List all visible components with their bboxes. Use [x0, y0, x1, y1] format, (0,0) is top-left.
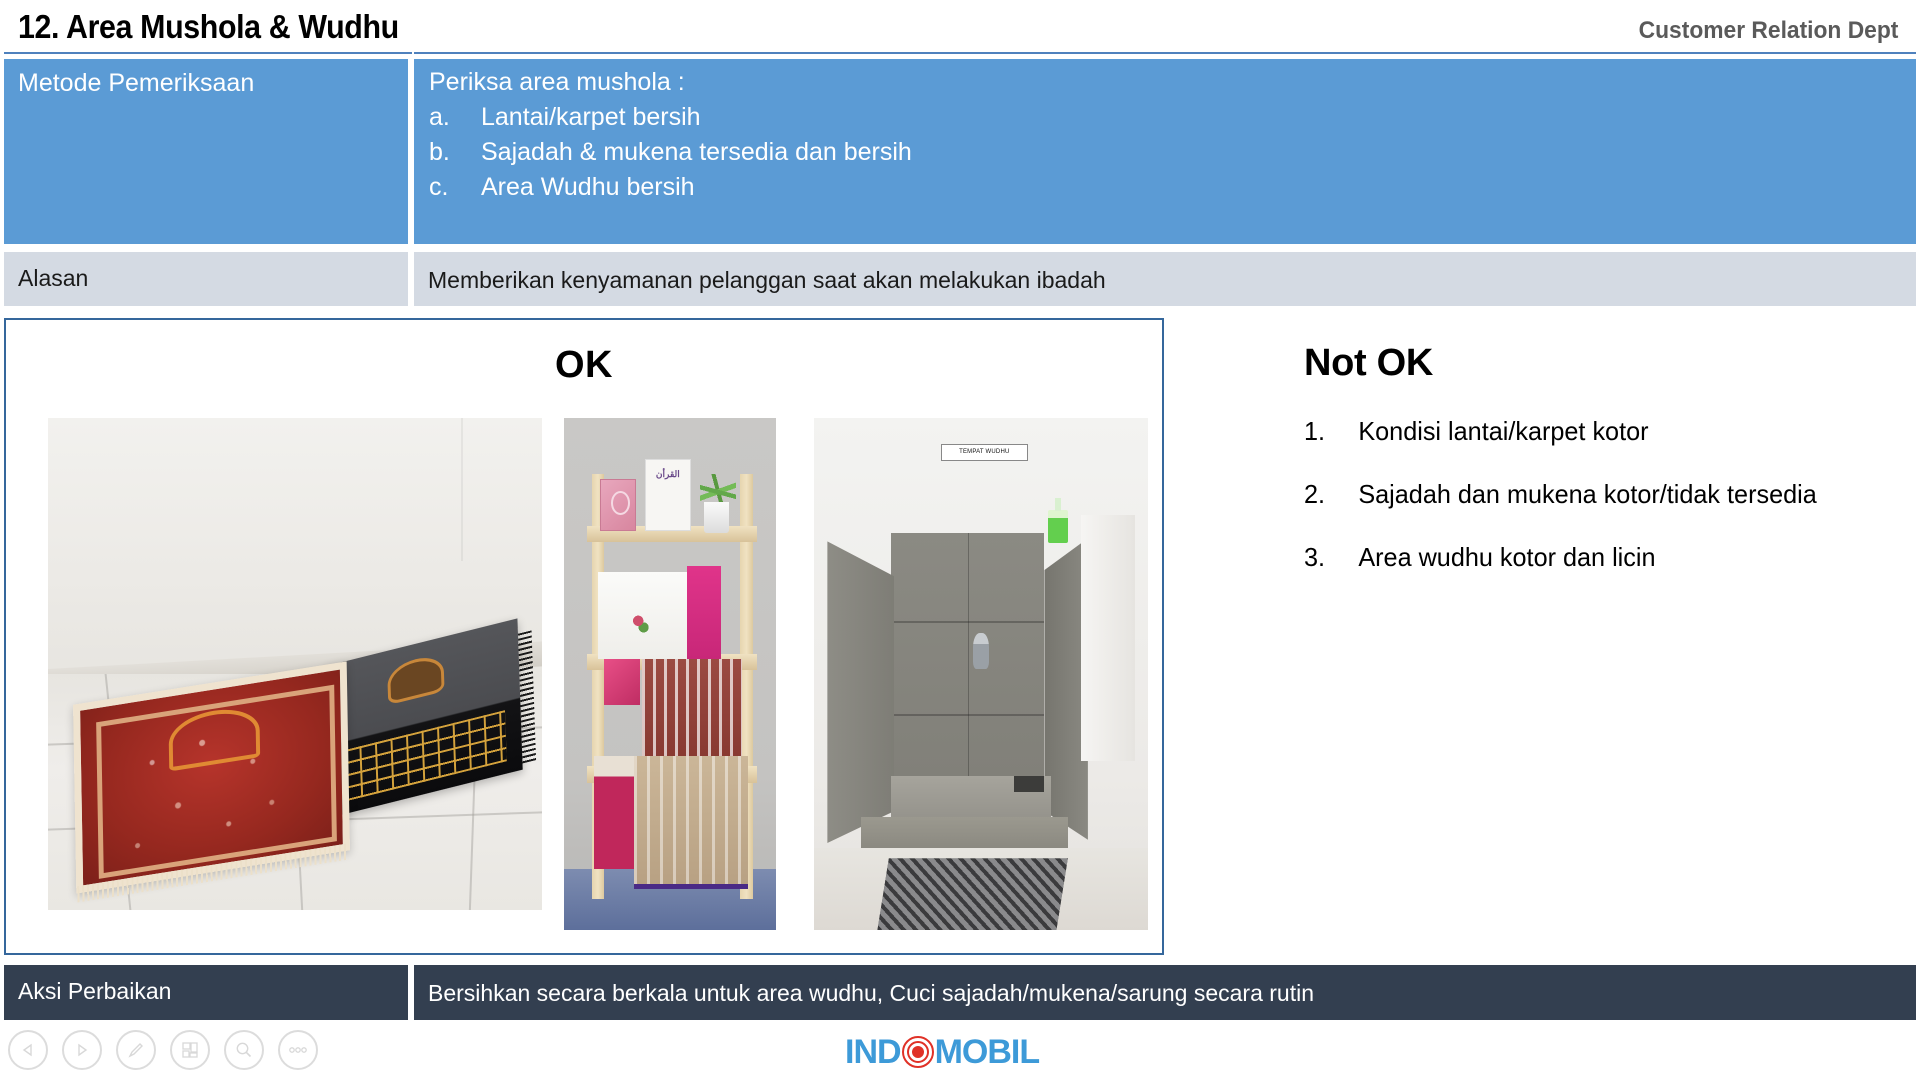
photo-prayer-rugs [48, 418, 542, 910]
not-ok-list: 1.Kondisi lantai/karpet kotor 2.Sajadah … [1304, 416, 1904, 605]
alasan-body-cell: Memberikan kenyamanan pelanggan saat aka… [414, 252, 1916, 306]
magnifier-icon [234, 1040, 254, 1060]
pen-icon [126, 1040, 146, 1060]
not-ok-item-1-number: 1. [1304, 416, 1358, 447]
not-ok-item-1: 1.Kondisi lantai/karpet kotor [1304, 416, 1886, 447]
ellipsis-icon [287, 1045, 309, 1055]
metode-item-c-text: Area Wudhu bersih [481, 173, 695, 201]
photo2-pink-cloth [687, 566, 721, 658]
metode-item-b: b.Sajadah & mukena tersedia dan bersih [429, 138, 912, 167]
metode-item-a-bullet: a. [429, 103, 481, 132]
photo3-booth-left-wall [827, 526, 894, 843]
metode-item-b-text: Sajadah & mukena tersedia dan bersih [481, 138, 912, 166]
slide-root: 12. Area Mushola & Wudhu Customer Relati… [0, 0, 1920, 1080]
not-ok-item-1-text: Kondisi lantai/karpet kotor [1358, 416, 1648, 446]
metode-pemeriksaan-label-cell: Metode Pemeriksaan [4, 59, 408, 244]
metode-pemeriksaan-label: Metode Pemeriksaan [18, 69, 254, 98]
aksi-perbaikan-label-cell: Aksi Perbaikan [4, 965, 408, 1020]
alasan-label-cell: Alasan [4, 252, 408, 306]
metode-pemeriksaan-body-cell: Periksa area mushola : a.Lantai/karpet b… [414, 59, 1916, 244]
not-ok-item-2-text: Sajadah dan mukena kotor/tidak tersedia [1358, 479, 1816, 509]
ok-title: OK [6, 344, 1162, 387]
photo2-small-pink-cloth [604, 659, 640, 705]
header-rule-right [414, 52, 1916, 54]
photo3-booth-back-wall [891, 533, 1045, 799]
aksi-perbaikan-text: Bersihkan secara berkala untuk area wudh… [428, 980, 1314, 1007]
metode-item-a-text: Lantai/karpet bersih [481, 103, 701, 131]
not-ok-item-3-text: Area wudhu kotor dan licin [1358, 542, 1655, 572]
metode-item-a: a.Lantai/karpet bersih [429, 103, 701, 132]
department-label: Customer Relation Dept [1638, 17, 1898, 45]
not-ok-item-3: 3.Area wudhu kotor dan licin [1304, 542, 1886, 573]
zoom-slide-button[interactable] [224, 1030, 264, 1070]
triangle-left-icon [20, 1042, 36, 1058]
metode-item-c-bullet: c. [429, 173, 481, 202]
next-slide-button[interactable] [62, 1030, 102, 1070]
pen-tool-button[interactable] [116, 1030, 156, 1070]
presentation-toolbar [8, 1030, 318, 1074]
photo3-tempat-wudhu-sign: TEMPAT WUDHU [941, 444, 1028, 461]
not-ok-item-3-number: 3. [1304, 542, 1358, 573]
more-options-button[interactable] [278, 1030, 318, 1070]
photo3-soap-dispenser [1048, 510, 1068, 543]
grid-slides-icon [180, 1040, 200, 1060]
photo3-floor-drain [1014, 776, 1044, 791]
photo2-pink-book [600, 479, 636, 530]
photo3-right-pillar [1081, 515, 1134, 761]
previous-slide-button[interactable] [8, 1030, 48, 1070]
ok-panel: OK [4, 318, 1164, 955]
header-rule-left [4, 52, 412, 54]
photo2-red-batik-sarong [642, 659, 742, 772]
not-ok-item-2-number: 2. [1304, 479, 1358, 510]
photo3-faucet [973, 633, 990, 669]
alasan-text: Memberikan kenyamanan pelanggan saat aka… [428, 267, 1106, 294]
not-ok-item-2: 2.Sajadah dan mukena kotor/tidak tersedi… [1304, 479, 1886, 510]
photo2-quran-book: القرأن [645, 459, 692, 531]
slide-header: 12. Area Mushola & Wudhu Customer Relati… [0, 0, 1920, 54]
logo-text-ind: IND [845, 1033, 901, 1072]
metode-item-b-bullet: b. [429, 138, 481, 167]
page-title: 12. Area Mushola & Wudhu [18, 8, 399, 46]
photo-mukena-shelf: القرأن [564, 418, 776, 930]
photo2-gold-batik-sarong [634, 756, 748, 889]
photo3-entrance-mat [877, 858, 1067, 930]
aksi-perbaikan-label: Aksi Perbaikan [18, 978, 171, 1005]
logo-text-mobil: MOBIL [935, 1033, 1040, 1072]
metode-item-c: c.Area Wudhu bersih [429, 173, 695, 202]
triangle-right-icon [74, 1042, 90, 1058]
metode-intro: Periksa area mushola : [429, 68, 685, 97]
aksi-perbaikan-body-cell: Bersihkan secara berkala untuk area wudh… [414, 965, 1916, 1020]
photo-wudhu-area: TEMPAT WUDHU [814, 418, 1148, 930]
alasan-label: Alasan [18, 265, 88, 292]
logo-target-icon [902, 1036, 934, 1068]
indomobil-logo: IND MOBIL [845, 1032, 1039, 1072]
all-slides-button[interactable] [170, 1030, 210, 1070]
photo1-wall-corner [461, 418, 463, 561]
not-ok-title: Not OK [1304, 342, 1433, 385]
photo2-plant-pot [704, 502, 729, 533]
